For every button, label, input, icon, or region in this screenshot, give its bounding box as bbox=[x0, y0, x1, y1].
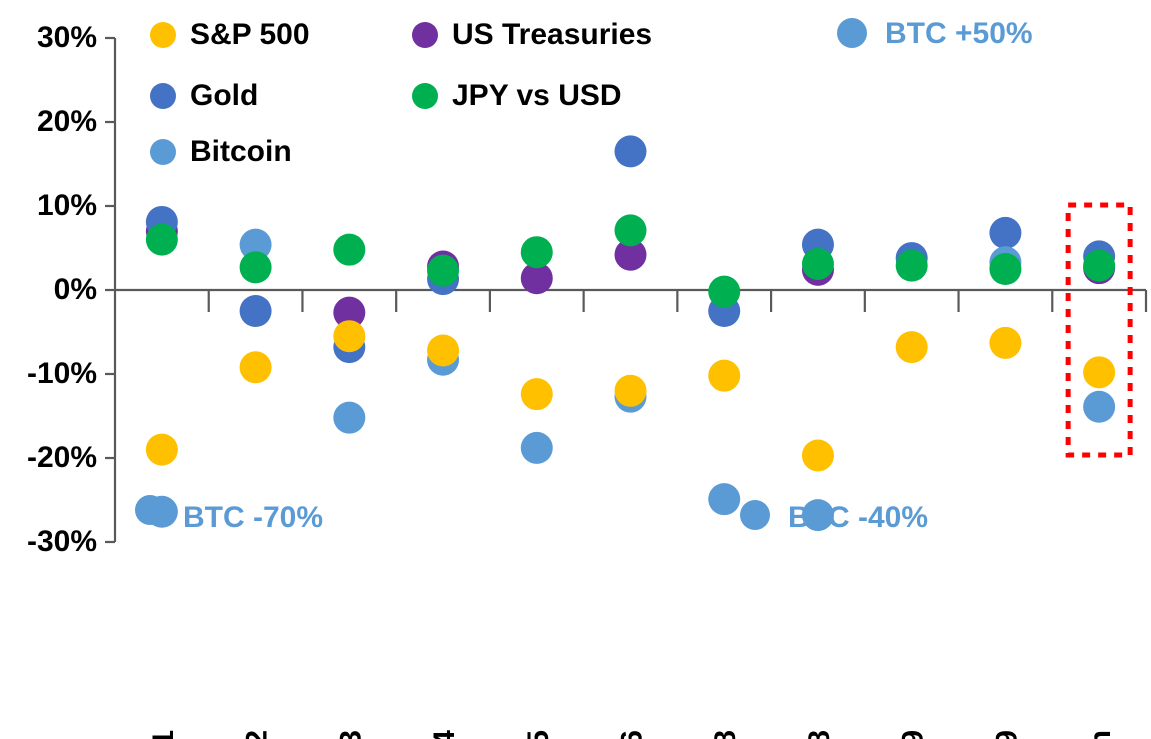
annotation-label-btc-up: BTC +50% bbox=[885, 17, 1033, 50]
x-axis-tick-label: Jun-13 bbox=[334, 730, 367, 739]
x-axis-tick-label: Aug-19 bbox=[990, 730, 1023, 739]
data-point bbox=[989, 217, 1021, 249]
y-axis-tick-label: 20% bbox=[37, 105, 97, 138]
annotation-marker-btc-down-40 bbox=[740, 500, 770, 530]
data-point bbox=[333, 402, 365, 434]
data-point bbox=[1083, 250, 1115, 282]
data-point bbox=[1083, 391, 1115, 423]
data-point bbox=[615, 135, 647, 167]
y-axis-tick-label: -20% bbox=[27, 441, 97, 474]
data-point bbox=[896, 250, 928, 282]
data-point bbox=[333, 234, 365, 266]
annotation-marker-btc-up bbox=[837, 18, 867, 48]
x-axis-tick-label: Aug/Sep-11 bbox=[147, 730, 180, 739]
data-point bbox=[708, 483, 740, 515]
data-point bbox=[240, 351, 272, 383]
data-point bbox=[1083, 356, 1115, 388]
data-point bbox=[521, 236, 553, 268]
data-point bbox=[146, 434, 178, 466]
data-point bbox=[521, 378, 553, 410]
x-axis-tick-label: Jan-16 bbox=[616, 730, 649, 739]
y-axis-tick-label: -10% bbox=[27, 357, 97, 390]
legend-marker-gold bbox=[150, 83, 176, 109]
y-axis-tick-label: 30% bbox=[37, 21, 97, 54]
data-point bbox=[989, 253, 1021, 285]
legend-label-bitcoin: Bitcoin bbox=[190, 135, 292, 168]
data-point bbox=[521, 432, 553, 464]
data-point bbox=[240, 251, 272, 283]
legend-label-jpy-vs-usd: JPY vs USD bbox=[452, 79, 622, 112]
data-point bbox=[615, 214, 647, 246]
legend-marker-us-treasuries bbox=[412, 22, 438, 48]
chart-canvas: 30%20%10%0%-10%-20%-30%Aug/Sep-11May-12J… bbox=[0, 0, 1151, 739]
scatter-chart: 30%20%10%0%-10%-20%-30%Aug/Sep-11May-12J… bbox=[0, 0, 1151, 739]
annotation-label-btc-down-70: BTC -70% bbox=[183, 501, 323, 534]
data-point bbox=[708, 276, 740, 308]
x-axis-tick-label: Aug-15 bbox=[522, 730, 555, 739]
x-axis-tick-label: May-19 bbox=[897, 730, 930, 739]
data-point bbox=[427, 334, 459, 366]
data-point bbox=[427, 255, 459, 287]
x-axis-tick-label: Feb-18 bbox=[709, 730, 742, 739]
y-axis-tick-label: 0% bbox=[54, 273, 97, 306]
annotation-marker-btc-down-70 bbox=[135, 495, 165, 525]
legend-marker-jpy-vs-usd bbox=[412, 83, 438, 109]
data-point bbox=[146, 224, 178, 256]
annotation-label-btc-down-40: BTC -40% bbox=[788, 501, 928, 534]
data-point bbox=[802, 248, 834, 280]
y-axis-tick-label: 10% bbox=[37, 189, 97, 222]
data-point bbox=[240, 295, 272, 327]
data-point bbox=[802, 439, 834, 471]
data-point bbox=[896, 331, 928, 363]
x-axis-tick-label: Oct-14 bbox=[428, 730, 461, 739]
data-point bbox=[615, 375, 647, 407]
legend-label-s-p-500: S&P 500 bbox=[190, 18, 310, 51]
data-point bbox=[708, 360, 740, 392]
legend-label-gold: Gold bbox=[190, 79, 258, 112]
data-point bbox=[989, 327, 1021, 359]
x-axis-tick-label: Oct/Dec-18 bbox=[803, 730, 836, 739]
legend-marker-s-p-500 bbox=[150, 22, 176, 48]
data-point bbox=[333, 320, 365, 352]
legend-marker-bitcoin bbox=[150, 139, 176, 165]
x-axis-tick-label: Median bbox=[1084, 730, 1117, 739]
y-axis-tick-label: -30% bbox=[27, 525, 97, 558]
x-axis-tick-label: May-12 bbox=[241, 730, 274, 739]
legend-label-us-treasuries: US Treasuries bbox=[452, 18, 652, 51]
series-s-p-500 bbox=[146, 320, 1115, 471]
